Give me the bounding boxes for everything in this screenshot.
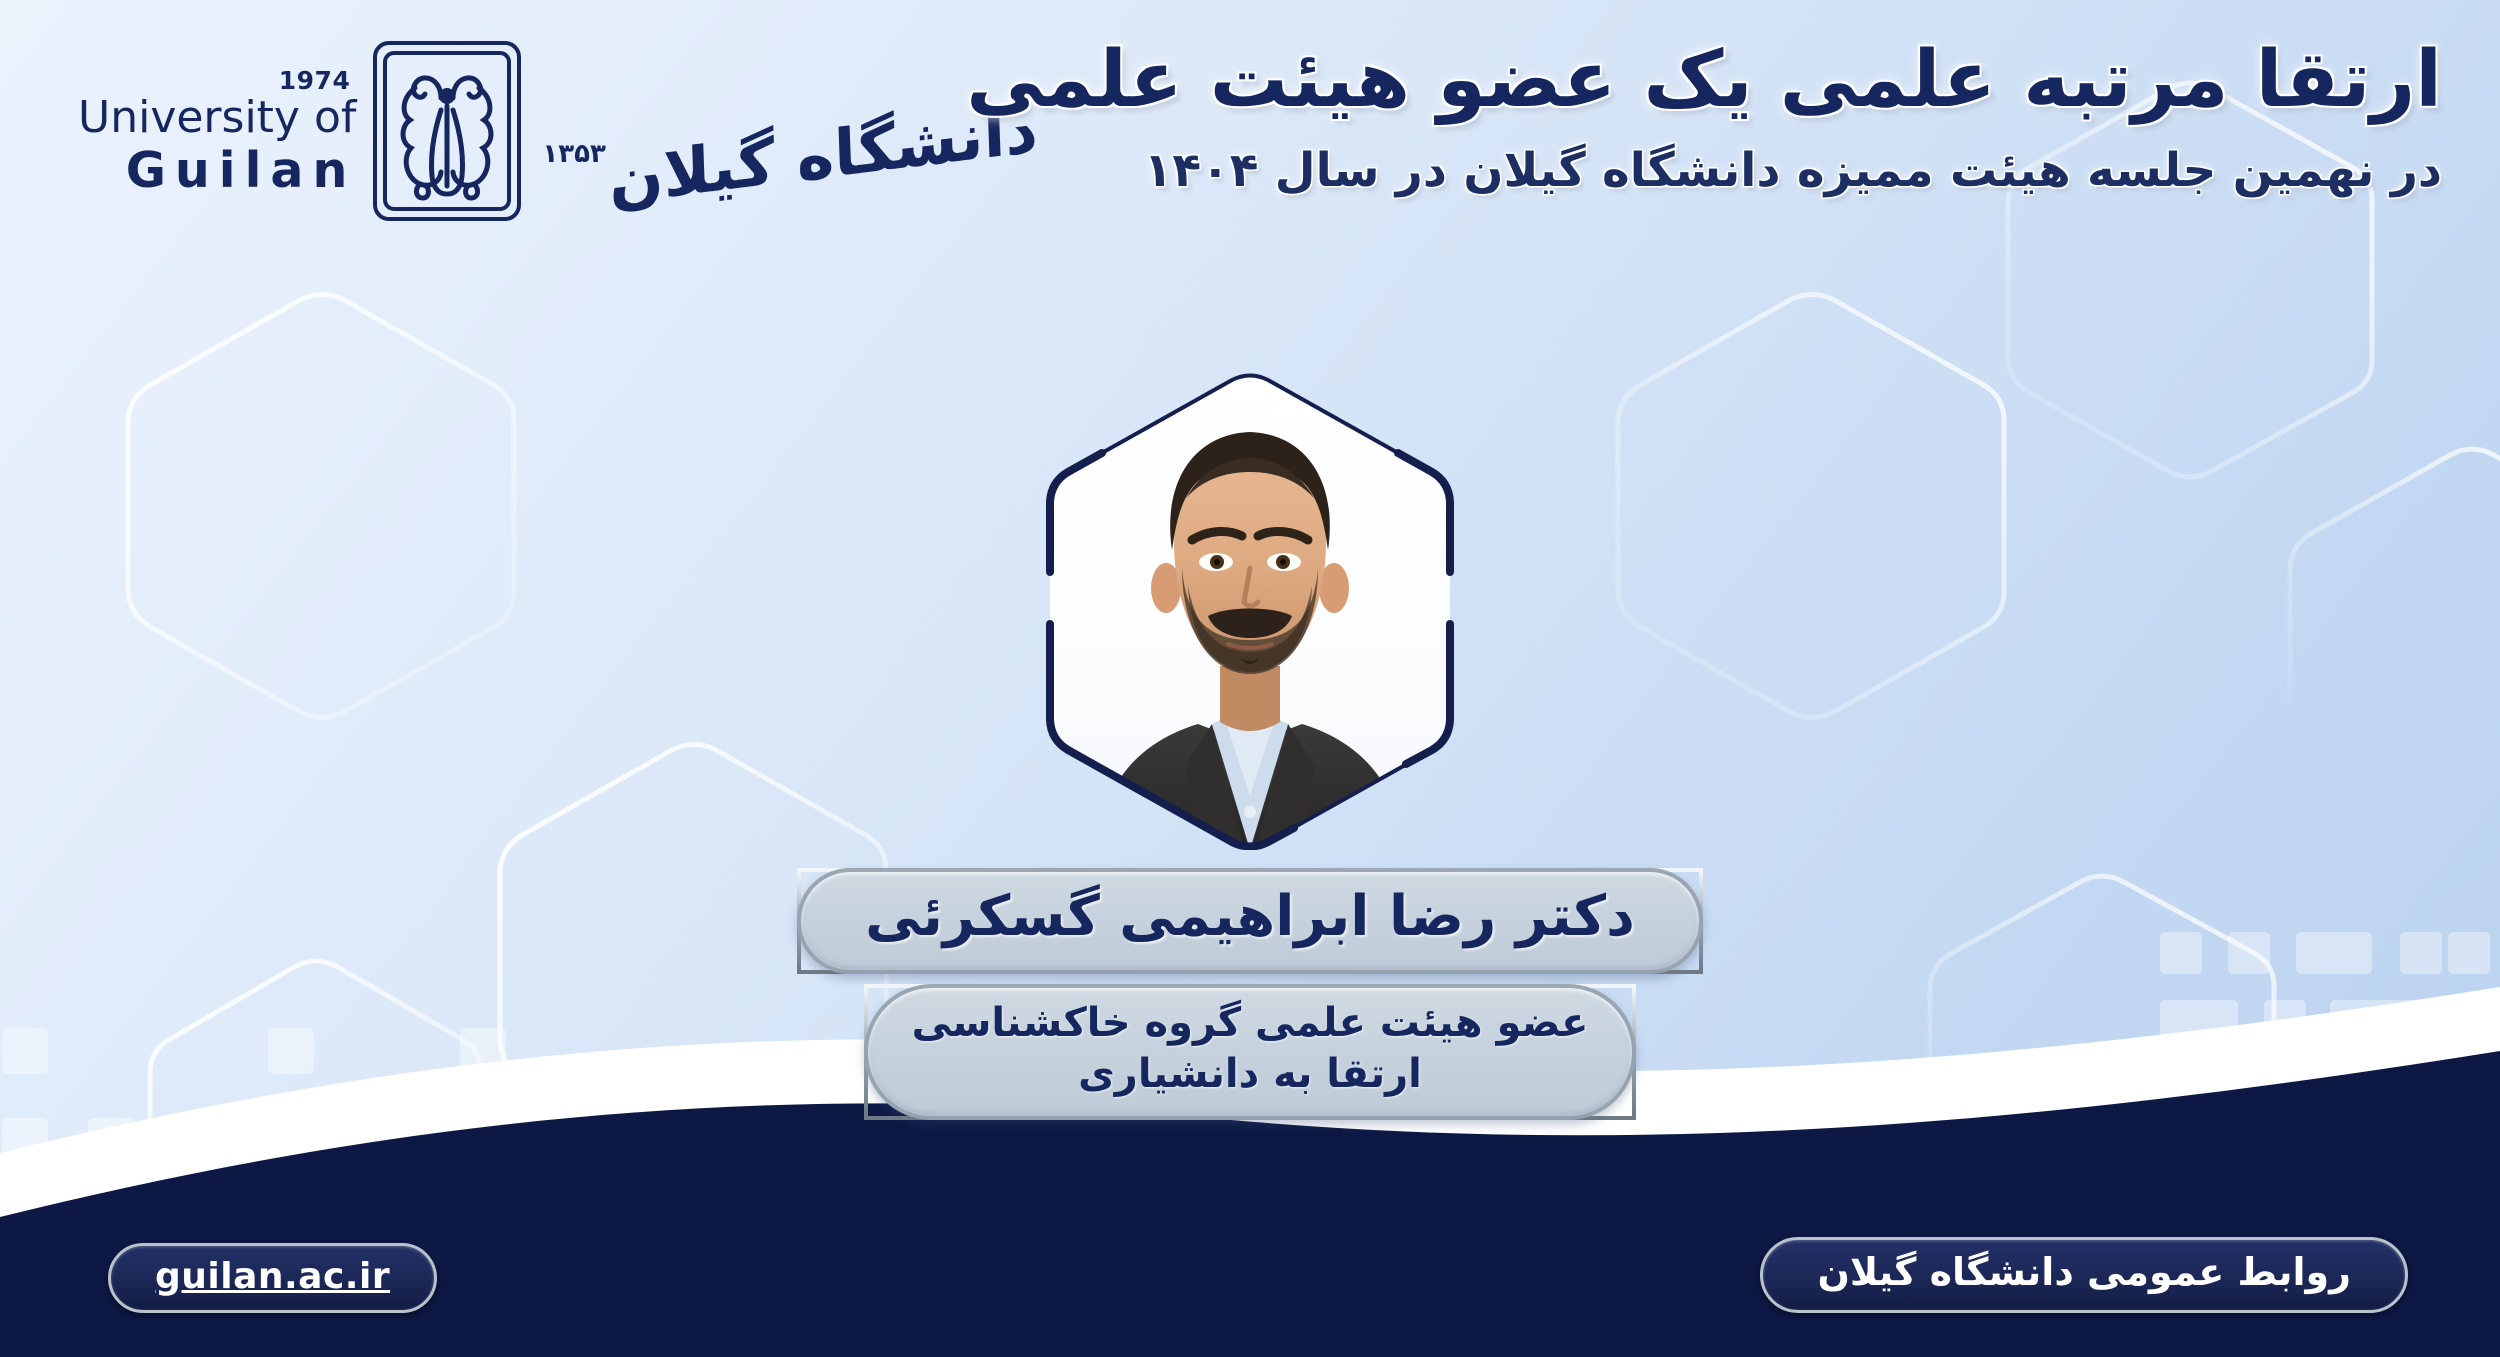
- logo-english-line1: University of: [78, 96, 356, 140]
- person-name: دکتر رضا ابراهیمی گسکرئی: [865, 882, 1635, 952]
- guilan-emblem-icon: [368, 36, 526, 230]
- logo-english-wordmark: 1974 University of Guilan: [78, 68, 356, 199]
- person-role-line1: عضو هیئت علمی گروه خاکشناسی: [912, 998, 1589, 1049]
- public-relations-badge: روابط عمومی دانشگاه گیلان: [1760, 1237, 2408, 1313]
- public-relations-label: روابط عمومی دانشگاه گیلان: [1817, 1250, 2351, 1294]
- header-title-block: ارتقا مرتبه علمی یک عضو هیئت علمی در نهم…: [966, 34, 2442, 201]
- promotion-announcement-poster: دانشگاه گیلان ۱۳۵۳: [0, 0, 2500, 1357]
- portrait-photo: [1036, 372, 1464, 850]
- logo-persian-year: ۱۳۵۳: [538, 97, 605, 169]
- logo-persian-wordmark: دانشگاه گیلان ۱۳۵۳: [538, 97, 1037, 169]
- footer-bar: guilan.ac.ir روابط عمومی دانشگاه گیلان: [0, 1197, 2500, 1357]
- website-url: guilan.ac.ir: [155, 1256, 390, 1297]
- poster-header: دانشگاه گیلان ۱۳۵۳: [0, 0, 2500, 270]
- website-link-button[interactable]: guilan.ac.ir: [108, 1243, 437, 1313]
- portrait-frame: [1036, 372, 1464, 850]
- logo-english-line2: Guilan: [126, 146, 357, 195]
- page-title: ارتقا مرتبه علمی یک عضو هیئت علمی: [966, 34, 2442, 126]
- logo-english-year: 1974: [279, 68, 351, 93]
- university-logo: دانشگاه گیلان ۱۳۵۳: [78, 36, 1038, 230]
- person-name-badge: دکتر رضا ابراهیمی گسکرئی: [797, 868, 1703, 974]
- person-role-line2: ارتقا به دانشیاری: [912, 1049, 1589, 1100]
- person-role-badge: عضو هیئت علمی گروه خاکشناسی ارتقا به دان…: [864, 984, 1637, 1120]
- page-subtitle: در نهمین جلسه هیئت ممیزه دانشگاه گیلان د…: [966, 142, 2442, 201]
- person-info-block: دکتر رضا ابراهیمی گسکرئی عضو هیئت علمی گ…: [0, 868, 2500, 1120]
